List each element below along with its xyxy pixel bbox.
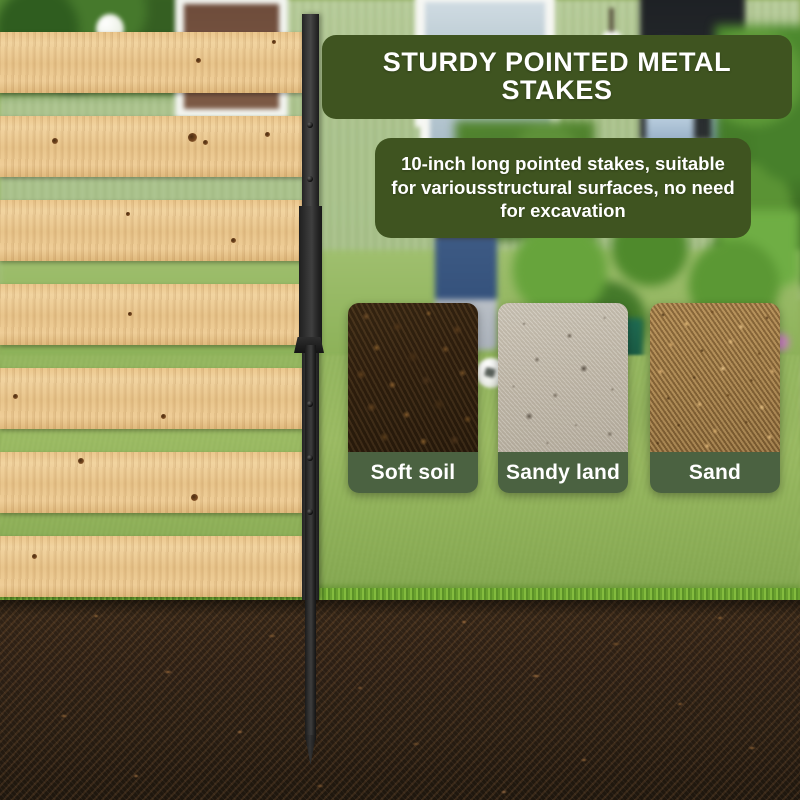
metal-post-collar bbox=[299, 206, 322, 351]
screw-icon bbox=[307, 122, 313, 128]
fence-slat bbox=[0, 116, 303, 177]
wood-knot bbox=[32, 554, 37, 559]
wood-knot bbox=[265, 132, 270, 137]
fence-slat bbox=[0, 200, 303, 261]
wood-knot bbox=[13, 394, 18, 399]
soil-top-shadow bbox=[0, 600, 800, 616]
wooden-fence bbox=[0, 0, 303, 600]
sandy-land-texture-image bbox=[498, 303, 628, 452]
headline-banner: STURDY POINTED METAL STAKES bbox=[322, 35, 792, 119]
wood-knot bbox=[188, 133, 197, 142]
material-cards-group: Soft soil Sandy land Sand bbox=[348, 303, 780, 493]
fence-slat bbox=[0, 452, 303, 513]
material-card-sandy-land: Sandy land bbox=[498, 303, 628, 493]
wood-knot bbox=[52, 138, 58, 144]
wood-knot bbox=[191, 494, 198, 501]
wood-knot bbox=[78, 458, 84, 464]
screw-icon bbox=[307, 509, 313, 515]
screw-icon bbox=[307, 455, 313, 461]
wood-knot bbox=[272, 40, 276, 44]
subheadline-banner: 10-inch long pointed stakes, suitable fo… bbox=[375, 138, 751, 238]
material-card-label: Soft soil bbox=[348, 452, 478, 493]
material-card-label: Sand bbox=[650, 452, 780, 493]
material-card-soft-soil: Soft soil bbox=[348, 303, 478, 493]
material-card-sand: Sand bbox=[650, 303, 780, 493]
screw-icon bbox=[307, 401, 313, 407]
wood-knot bbox=[231, 238, 236, 243]
soil-cross-section bbox=[0, 600, 800, 800]
wood-knot bbox=[126, 212, 130, 216]
wood-knot bbox=[128, 312, 132, 316]
wood-knot bbox=[203, 140, 208, 145]
product-marketing-image: STURDY POINTED METAL STAKES 10-inch long… bbox=[0, 0, 800, 800]
fence-slat bbox=[0, 284, 303, 345]
fence-slat bbox=[0, 536, 303, 597]
material-card-label: Sandy land bbox=[498, 452, 628, 493]
soil-texture-image bbox=[348, 303, 478, 452]
wood-knot bbox=[196, 58, 201, 63]
sand-texture-image bbox=[650, 303, 780, 452]
fence-slat bbox=[0, 32, 303, 93]
fence-slat bbox=[0, 368, 303, 429]
wood-knot bbox=[161, 414, 166, 419]
screw-icon bbox=[307, 176, 313, 182]
